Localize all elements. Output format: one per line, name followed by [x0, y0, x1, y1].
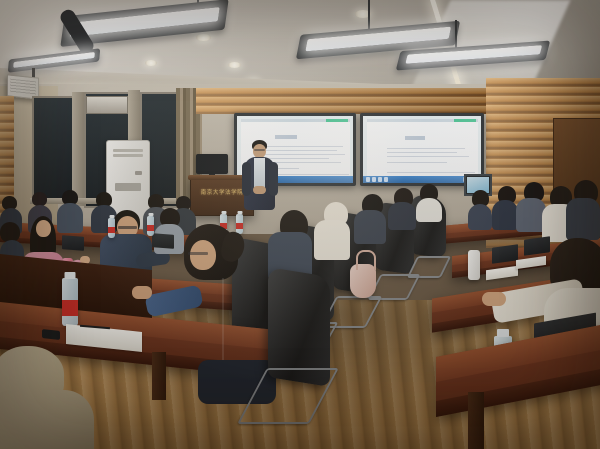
presenter-head	[253, 144, 266, 158]
attendee-body	[492, 200, 518, 230]
attendee-pink-top-head	[36, 220, 51, 237]
water-bottle[interactable]	[147, 216, 154, 236]
attendee-body	[354, 210, 386, 244]
attendee-denim-head	[190, 240, 216, 270]
attendee-body	[416, 198, 442, 222]
attendee-body	[314, 220, 350, 260]
audience-row-center	[252, 180, 452, 250]
podium-monitor	[196, 154, 228, 174]
screen-right-surface	[363, 116, 481, 183]
downlight-icon	[196, 34, 211, 41]
attendee-denim-hand	[132, 286, 152, 299]
attendee-denim-seam	[222, 278, 224, 364]
presenter-glasses-icon	[254, 149, 265, 151]
downlight-icon	[145, 60, 157, 66]
attendee-body	[566, 198, 600, 240]
window-transom-ac	[86, 96, 128, 114]
table-leg	[468, 392, 484, 449]
wood-slat-wall-upper	[196, 88, 496, 114]
attendee-head	[0, 222, 20, 242]
water-bottle[interactable]	[108, 218, 115, 238]
attendee-khaki-jacket	[0, 346, 120, 449]
attendee-body	[388, 202, 416, 230]
photo-scene: 南京大学法学院	[0, 0, 600, 449]
pendant-rod	[455, 20, 457, 50]
presenter-arm-left	[242, 162, 251, 196]
attendee-cream-hand	[482, 292, 506, 306]
phone[interactable]	[42, 329, 60, 340]
glasses-icon	[188, 252, 208, 255]
downlight-icon	[228, 62, 241, 68]
attendee-khaki-body	[0, 390, 94, 449]
attendee-body	[468, 204, 492, 230]
table-leg	[152, 352, 166, 400]
water-bottle[interactable]	[62, 278, 78, 326]
pendant-rod	[368, 0, 370, 30]
thermos[interactable]	[468, 250, 480, 280]
glasses-icon	[118, 226, 137, 229]
laptop[interactable]	[62, 235, 84, 251]
handbag-strap	[356, 250, 376, 270]
